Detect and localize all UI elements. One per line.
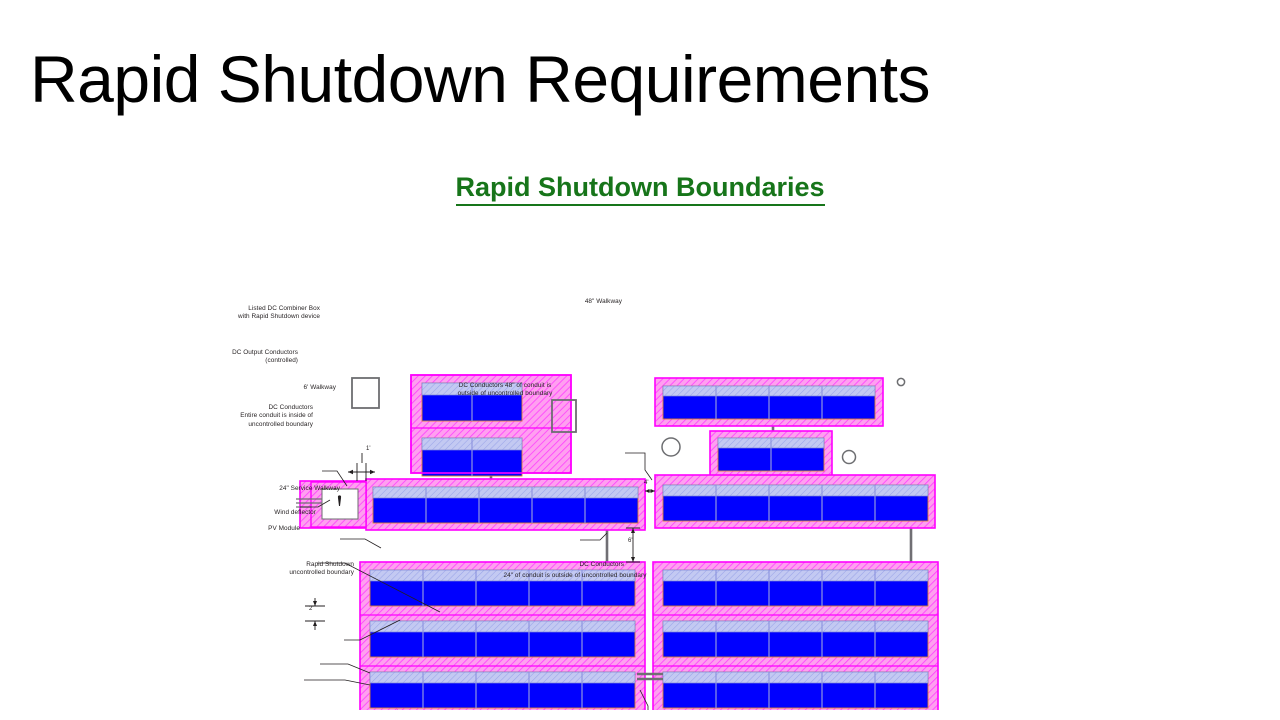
pv-row xyxy=(370,621,635,657)
pv-row xyxy=(663,386,875,419)
dimension-6ft: 6' xyxy=(628,538,632,544)
roof-plan-svg xyxy=(0,150,1280,710)
page-title: Rapid Shutdown Requirements xyxy=(30,46,930,112)
annotation-rapid-shutdown-boundary: Rapid Shutdownuncontrolled boundary xyxy=(190,561,354,578)
roof-square xyxy=(352,378,379,408)
annotation-dc-conductors-outside: DC Conductors xyxy=(500,561,624,569)
annotation-dc-conductors-inside: DC ConductorsEntire conduit is inside of… xyxy=(160,404,313,429)
annotation-dc-conductors-outside-sub: 24" of conduit is outside of uncontrolle… xyxy=(420,572,730,580)
annotation-dc-conductors-48: DC Conductors 48" of conduit isoutside o… xyxy=(430,382,580,399)
dimension-1ft: 1' xyxy=(366,446,370,452)
dimension-4ft: 4' xyxy=(644,480,648,486)
annotation-pv-module: PV Module xyxy=(200,525,300,533)
dimension-2ft: 2' xyxy=(309,606,313,612)
array-mid-right xyxy=(655,475,935,528)
pv-row xyxy=(663,485,928,521)
diagram-canvas xyxy=(0,150,1280,710)
pv-row xyxy=(422,438,522,476)
roof-vent-small xyxy=(897,378,904,385)
pv-row xyxy=(718,438,824,471)
annotation-walkway-6ft: 6' Walkway xyxy=(200,384,336,392)
annotation-wind-deflector: Wind deflector xyxy=(190,509,316,517)
rapid-shutdown-boundaries-diagram: Rapid Shutdown Boundaries xyxy=(0,150,1280,710)
array-mid-right-small xyxy=(710,431,832,479)
annotation-combiner-box: Listed DC Combiner Boxwith Rapid Shutdow… xyxy=(40,305,320,322)
pv-row xyxy=(370,672,635,708)
pv-row xyxy=(373,487,638,523)
array-top-right xyxy=(655,378,883,426)
annotation-dc-output-conductors: DC Output Conductors(controlled) xyxy=(40,349,298,366)
annotation-walkway-48in: 48" Walkway xyxy=(500,298,622,306)
array-bottom-left xyxy=(360,562,645,710)
roof-vent-large xyxy=(662,438,680,456)
annotation-service-walkway-24in: 24" Service Walkway xyxy=(170,485,340,493)
array-bottom-right xyxy=(653,562,938,710)
pv-row xyxy=(663,621,928,657)
array-mid-left xyxy=(296,479,645,530)
roof-vent-large xyxy=(843,451,856,464)
pv-row xyxy=(663,672,928,708)
